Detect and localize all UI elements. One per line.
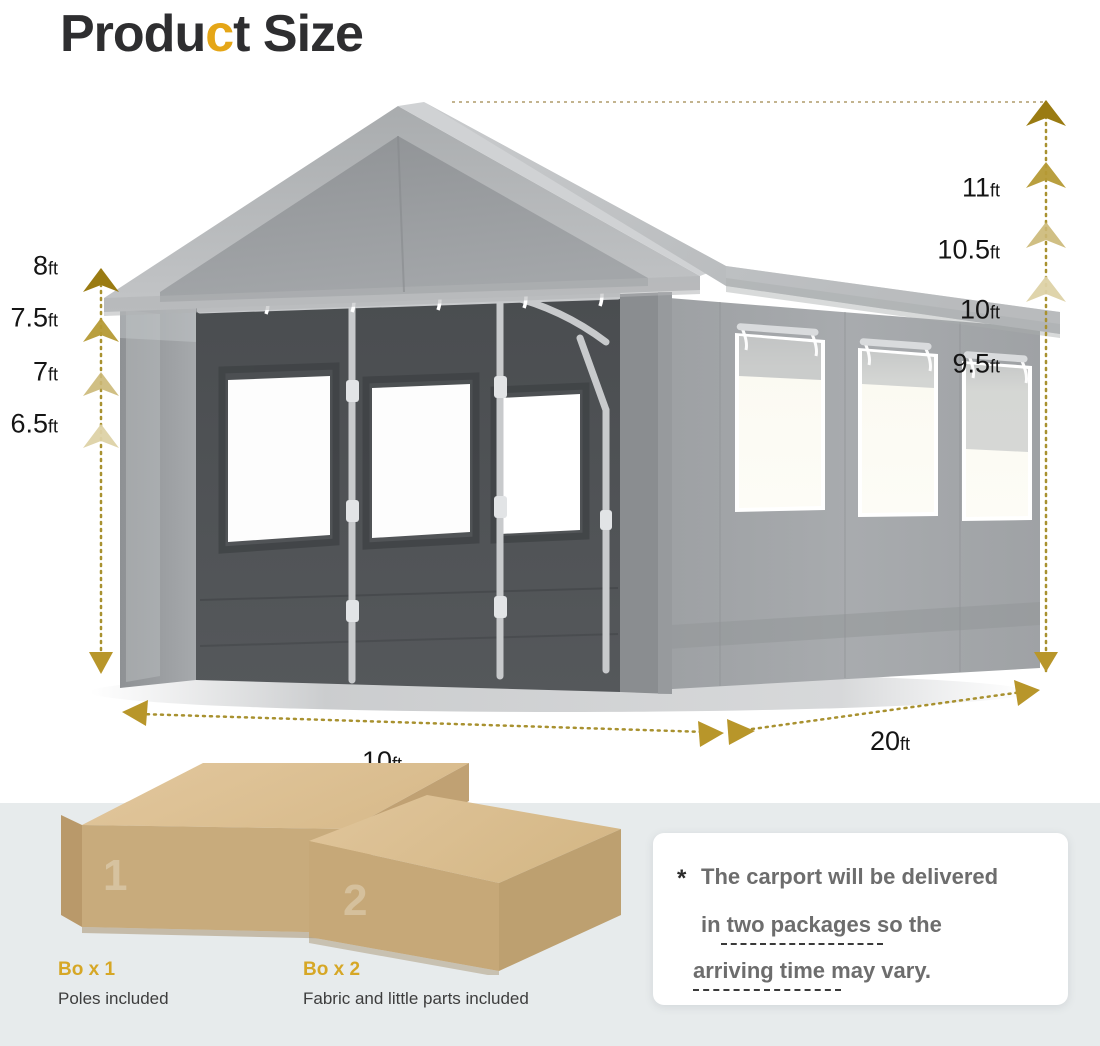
box-1-label: Bo x 1 <box>58 959 115 981</box>
box-2-label: Bo x 2 <box>303 959 360 981</box>
note-line-3: arriving time may vary. <box>693 958 931 984</box>
carport-illustration: 11ft 10.5ft 10ft 9.5ft 8ft 7.5ft 7ft 6.5… <box>0 80 1100 803</box>
box-1-description: Poles included <box>58 989 169 1009</box>
page-title-accent-letter: c <box>205 5 233 63</box>
right-dimension-line <box>1026 100 1066 672</box>
dimension-label-left-7ft: 7ft <box>33 357 58 388</box>
dimension-label-right-9_5ft: 9.5ft <box>952 349 1000 380</box>
page-title-before: Produ <box>60 5 205 63</box>
dimension-label-right-10_5ft: 10.5ft <box>937 235 1000 266</box>
left-dimension-line <box>83 268 119 674</box>
dimension-label-left-6_5ft: 6.5ft <box>10 409 58 440</box>
note-underline-2 <box>721 943 883 945</box>
dimension-label-left-8ft: 8ft <box>33 251 58 282</box>
box-number-2: 2 <box>343 876 367 925</box>
dimension-overlay <box>0 80 1100 803</box>
note-line-1: The carport will be delivered <box>701 864 998 890</box>
note-underline-3 <box>693 989 841 991</box>
note-bullet: * <box>677 865 686 893</box>
product-size-infographic: Product Size <box>0 0 1100 1046</box>
dimension-label-right-10ft: 10ft <box>960 295 1000 326</box>
dimension-label-left-7_5ft: 7.5ft <box>10 303 58 334</box>
box-2-description: Fabric and little parts included <box>303 989 529 1009</box>
dimension-label-bottom-20ft: 20ft <box>870 726 910 757</box>
box-number-1: 1 <box>103 851 127 900</box>
note-line-2: in two packages so the <box>701 912 942 938</box>
dimension-label-right-11ft: 11ft <box>962 173 1000 204</box>
page-title-after: t Size <box>233 5 363 63</box>
delivery-note-card: * The carport will be delivered in two p… <box>653 833 1068 1005</box>
shipping-boxes: 1 2 <box>55 755 675 975</box>
page-title: Product Size <box>60 4 363 64</box>
